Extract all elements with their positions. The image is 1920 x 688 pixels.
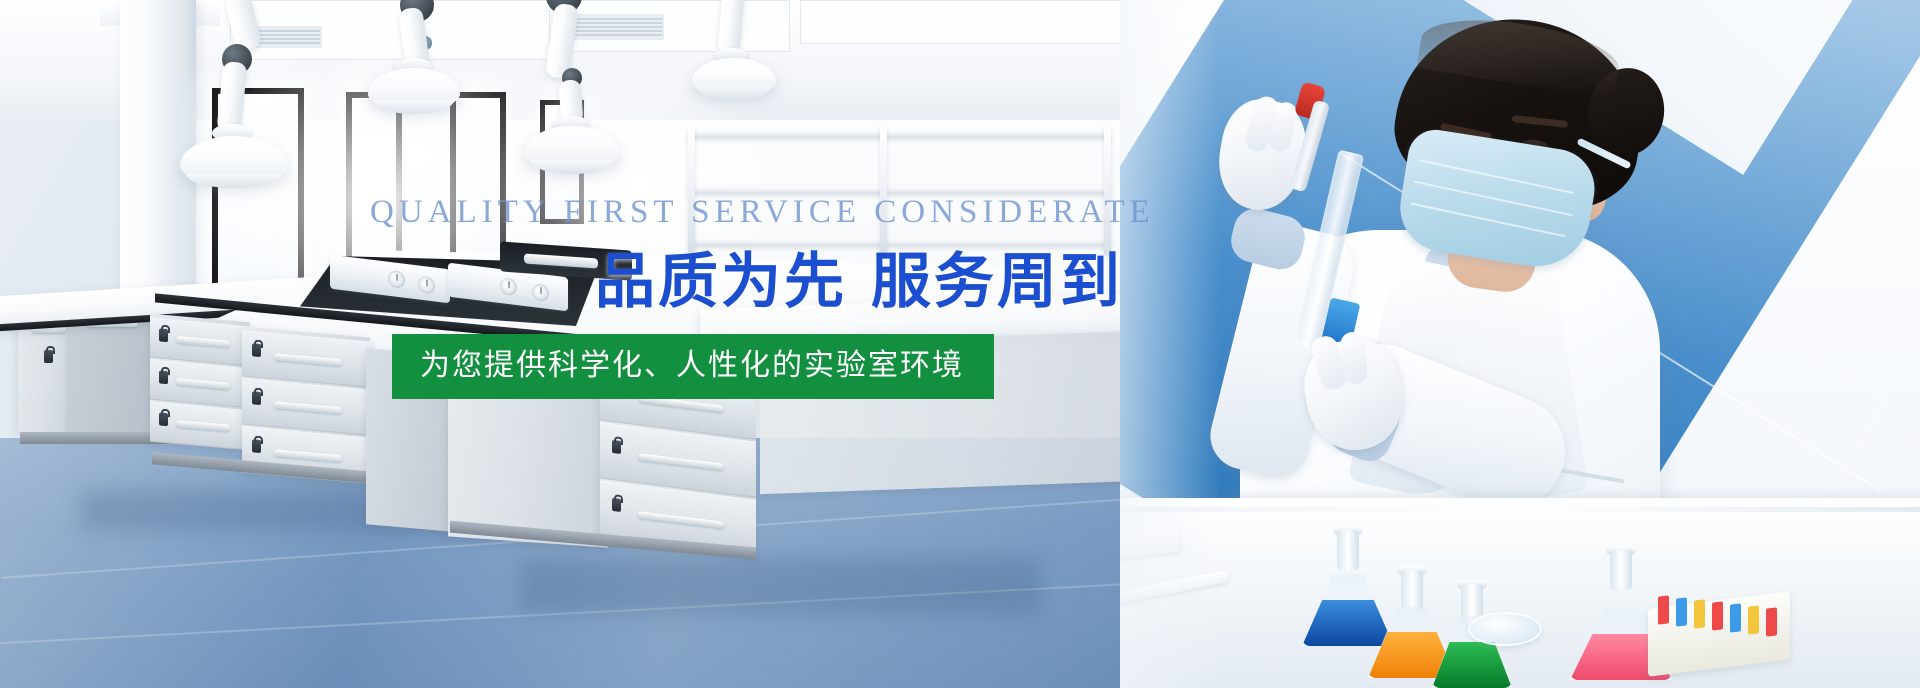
- floor-shadow: [520, 558, 1040, 614]
- hero-banner: QUALITY FIRST SERVICE CONSIDERATE 品质为先 服…: [0, 0, 1920, 688]
- drawer-lock: [252, 391, 261, 405]
- drawer-lock: [159, 412, 168, 426]
- shelf-upright: [1104, 126, 1111, 256]
- mask-pleat: [1419, 159, 1574, 194]
- pipette-tip: [1730, 603, 1741, 632]
- wall-shelf: [690, 186, 1110, 194]
- drawer-lock: [159, 370, 168, 384]
- flask-neck: [1337, 530, 1359, 570]
- pipette-tip: [1712, 601, 1723, 630]
- cabinet-plinth: [20, 432, 170, 444]
- ceiling-panel: [800, 0, 1140, 44]
- drawer-lock: [159, 328, 168, 342]
- hero-eyebrow: QUALITY FIRST SERVICE CONSIDERATE: [370, 196, 1070, 229]
- pipette-tip: [1766, 607, 1777, 636]
- flask-neck: [1401, 570, 1423, 610]
- pipette-tip: [1694, 599, 1705, 628]
- hero-subtitle-banner: 为您提供科学化、人性化的实验室环境: [392, 334, 994, 399]
- flask-neck: [1610, 550, 1632, 590]
- drawer-lock: [612, 498, 621, 512]
- pipette-tip: [1658, 595, 1669, 624]
- desk-edge: [1120, 507, 1920, 512]
- pipette-tip: [1748, 605, 1759, 634]
- hero-text-block: QUALITY FIRST SERVICE CONSIDERATE 品质为先 服…: [370, 196, 1070, 399]
- drawer-lock: [252, 343, 261, 357]
- scientist-photo: [1120, 0, 1920, 688]
- drawer-lock: [252, 439, 261, 453]
- cabinet: [150, 314, 250, 451]
- wall-shelf: [690, 130, 1110, 138]
- pipette-tip: [1676, 597, 1687, 626]
- flask-liquid-green: [1432, 642, 1512, 688]
- cabinet: [242, 326, 370, 483]
- hero-headline: 品质为先 服务周到: [595, 251, 1070, 314]
- lab-desk: [1120, 498, 1920, 688]
- petri-dish: [1468, 612, 1542, 646]
- drawer-lock: [612, 440, 621, 454]
- photo-left-fade: [1120, 0, 1220, 688]
- drawer-lock: [44, 350, 53, 363]
